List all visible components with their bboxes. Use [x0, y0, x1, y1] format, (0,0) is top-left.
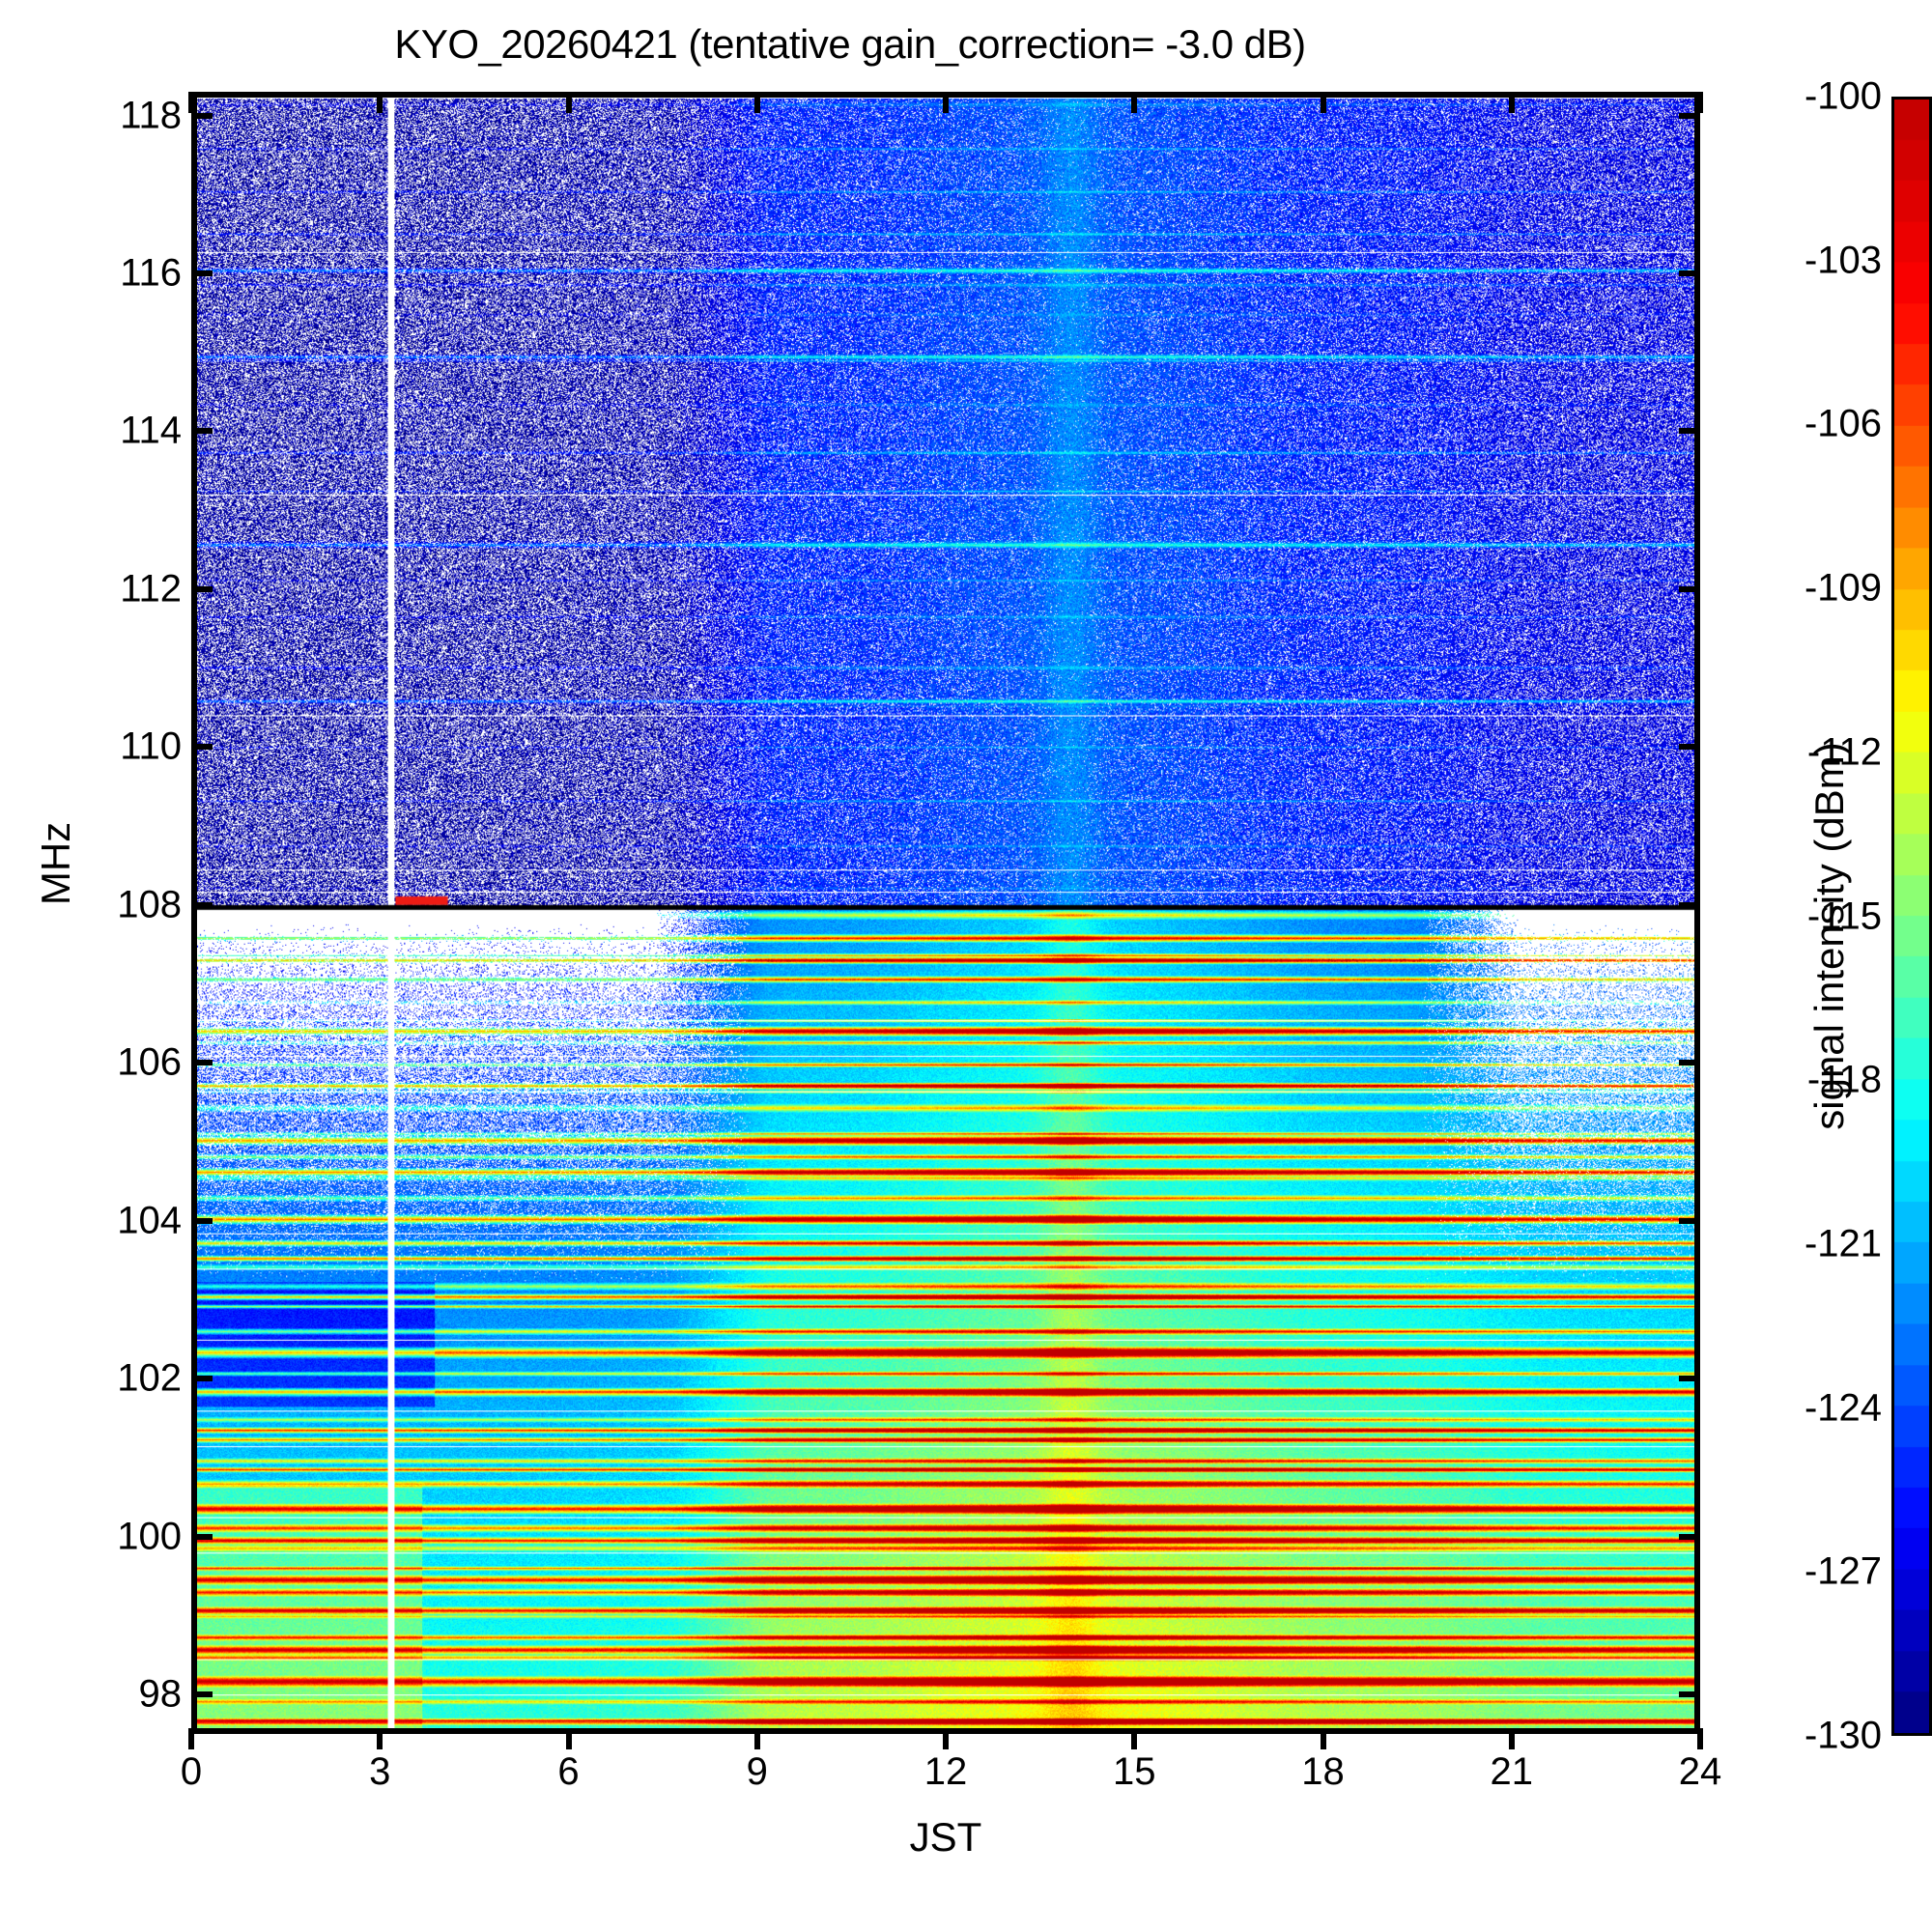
y-tick-label: 104	[0, 1199, 182, 1242]
x-tick-label: 15	[1037, 1750, 1231, 1794]
y-tick-label: 118	[0, 94, 182, 137]
colorbar-tick-label: -121	[1640, 1222, 1882, 1265]
x-tick-mark	[943, 92, 949, 113]
x-tick-mark	[1321, 1728, 1326, 1749]
y-tick-mark	[191, 428, 213, 434]
y-tick-label: 100	[0, 1515, 182, 1558]
x-tick-label: 9	[661, 1750, 854, 1794]
x-tick-label: 18	[1227, 1750, 1420, 1794]
y-tick-mark	[191, 744, 213, 750]
colorbar-tick-label: -124	[1640, 1386, 1882, 1430]
x-tick-mark	[1509, 1728, 1515, 1749]
y-tick-label: 110	[0, 725, 182, 769]
x-tick-mark	[1509, 92, 1515, 113]
x-tick-mark	[1321, 92, 1326, 113]
y-tick-mark	[1679, 1376, 1700, 1381]
y-tick-label: 116	[0, 251, 182, 295]
y-tick-mark	[191, 1218, 213, 1224]
x-tick-mark	[754, 92, 760, 113]
x-tick-mark	[754, 1728, 760, 1749]
y-tick-label: 112	[0, 567, 182, 611]
spectrogram-plot-area	[191, 92, 1700, 1734]
colorbar-tick-label: -100	[1640, 75, 1882, 119]
y-tick-mark	[191, 1376, 213, 1381]
x-tick-mark	[943, 1728, 949, 1749]
colorbar-tick-label: -109	[1640, 567, 1882, 611]
x-tick-mark	[188, 1728, 194, 1749]
y-tick-mark	[191, 270, 213, 276]
x-tick-mark	[566, 92, 572, 113]
y-tick-mark	[1679, 1691, 1700, 1697]
x-tick-mark	[188, 92, 194, 113]
spectrogram-canvas	[197, 98, 1694, 1728]
colorbar-tick-label: -127	[1640, 1550, 1882, 1594]
colorbar-tick-label: -106	[1640, 403, 1882, 446]
page-title: KYO_20260421 (tentative gain_correction=…	[0, 21, 1700, 68]
y-tick-label: 108	[0, 883, 182, 926]
x-axis-label: JST	[191, 1814, 1700, 1861]
x-tick-label: 0	[95, 1750, 288, 1794]
colorbar-label: signal intensity (dBm)	[1806, 733, 1853, 1139]
x-tick-mark	[377, 1728, 383, 1749]
x-tick-label: 6	[472, 1750, 666, 1794]
y-tick-mark	[191, 902, 213, 908]
x-tick-mark	[377, 92, 383, 113]
x-tick-mark	[1131, 92, 1137, 113]
y-tick-label: 98	[0, 1673, 182, 1717]
y-tick-mark	[191, 1060, 213, 1065]
x-tick-mark	[566, 1728, 572, 1749]
colorbar-canvas	[1894, 99, 1929, 1733]
x-tick-mark	[1131, 1728, 1137, 1749]
y-tick-mark	[191, 586, 213, 592]
x-tick-label: 21	[1415, 1750, 1608, 1794]
y-tick-mark	[1679, 1534, 1700, 1540]
y-tick-mark	[191, 1534, 213, 1540]
colorbar-tick-label: -130	[1640, 1715, 1882, 1758]
colorbar-tick-label: -103	[1640, 239, 1882, 282]
x-tick-label: 3	[283, 1750, 476, 1794]
colorbar	[1891, 97, 1932, 1736]
y-tick-label: 102	[0, 1357, 182, 1401]
y-tick-label: 106	[0, 1041, 182, 1085]
y-tick-mark	[191, 113, 213, 119]
y-tick-label: 114	[0, 410, 182, 453]
x-tick-label: 12	[849, 1750, 1042, 1794]
y-tick-mark	[191, 1691, 213, 1697]
